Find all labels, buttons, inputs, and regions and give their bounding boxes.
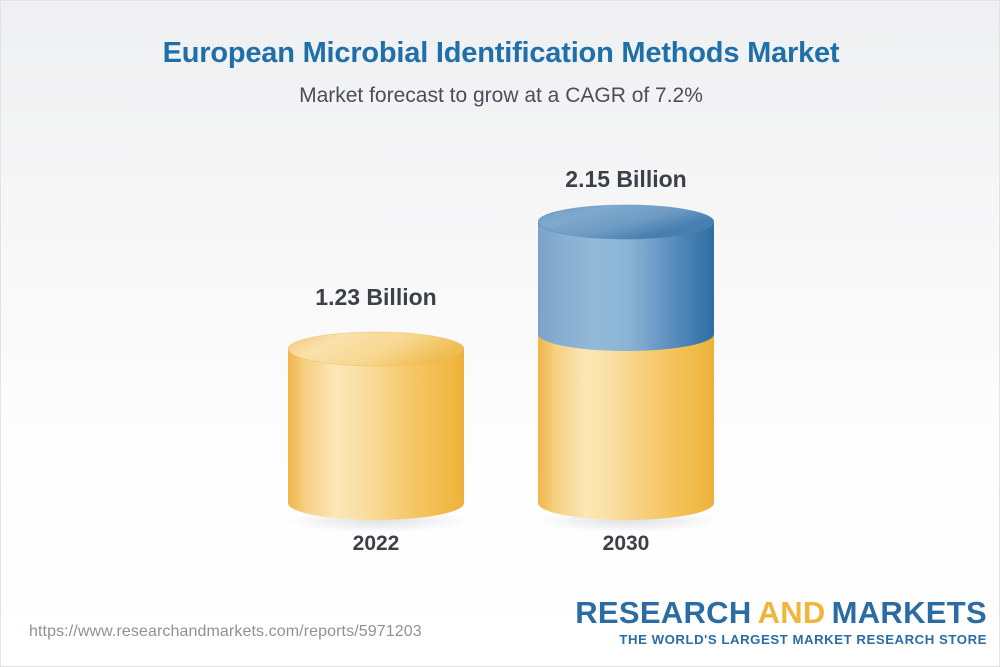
logo-word-and: AND [758, 595, 826, 630]
chart-plot-area: 1.23 Billion [1, 1, 1000, 667]
infographic-canvas: European Microbial Identification Method… [0, 0, 1000, 667]
cylinder-bar-2030 [538, 204, 714, 534]
logo-tagline: THE WORLD'S LARGEST MARKET RESEARCH STOR… [575, 633, 987, 646]
logo-wordmark: RESEARCHANDMARKETS [575, 597, 987, 628]
bar-category-label-2030: 2030 [496, 531, 756, 557]
bar-value-label-2030: 2.15 Billion [496, 165, 756, 193]
logo-word-research: RESEARCH [575, 595, 751, 630]
bar-value-label-2022: 1.23 Billion [246, 283, 506, 311]
bar-segment-growth-2030 [538, 222, 714, 351]
bar-group-2030: 2.15 Billion [496, 161, 756, 581]
bar-segment-base-2030 [538, 334, 714, 520]
bar-category-label-2022: 2022 [246, 531, 506, 557]
logo-word-markets: MARKETS [832, 595, 987, 630]
source-url[interactable]: https://www.researchandmarkets.com/repor… [29, 623, 422, 641]
research-and-markets-logo[interactable]: RESEARCHANDMARKETS THE WORLD'S LARGEST M… [575, 597, 987, 646]
cylinder-bar-2022 [288, 331, 464, 533]
bar-group-2022: 1.23 Billion [246, 161, 506, 581]
bar-body-2022 [288, 349, 464, 520]
